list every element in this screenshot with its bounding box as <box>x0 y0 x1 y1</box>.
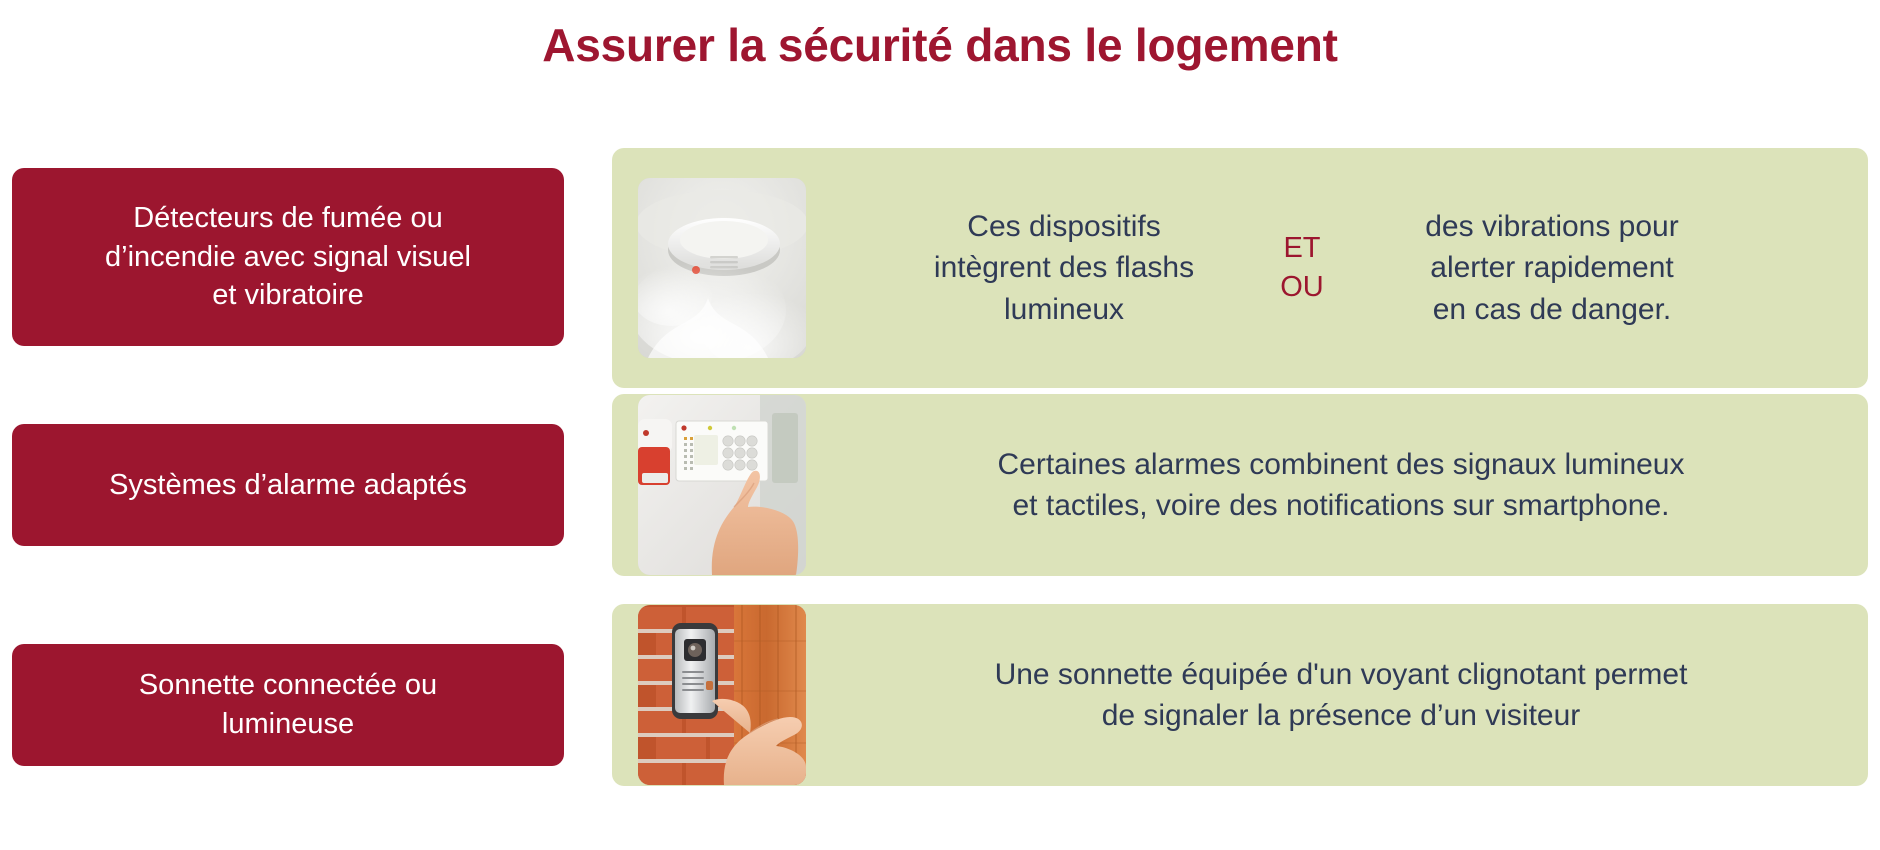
label-text: Détecteurs de fumée ou d’incendie avec s… <box>26 199 550 315</box>
row3-text: Une sonnette équipée d'un voyant clignot… <box>806 654 1868 737</box>
smoke-detector-photo <box>638 178 806 358</box>
row2-text: Certaines alarmes combinent des signaux … <box>806 444 1868 527</box>
label-box-alarm-systems[interactable]: Systèmes d’alarme adaptés <box>12 424 564 546</box>
row-doorbell: Sonnette connectée ou lumineuse <box>0 604 1880 794</box>
row1-text-left: Ces dispositifs intègrent des flashs lum… <box>886 206 1242 330</box>
label-box-smoke-detectors[interactable]: Détecteurs de fumée ou d’incendie avec s… <box>12 168 564 346</box>
row-smoke-detectors: Détecteurs de fumée ou d’incendie avec s… <box>0 148 1880 394</box>
label-text: Sonnette connectée ou lumineuse <box>26 666 550 743</box>
slide-root: Assurer la sécurité dans le logement Dét… <box>0 0 1880 850</box>
alarm-keypad-photo <box>638 395 806 575</box>
label-text: Systèmes d’alarme adaptés <box>26 466 550 505</box>
content-panel-alarm-systems: Certaines alarmes combinent des signaux … <box>612 394 1868 576</box>
row1-text-right: des vibrations pour alerter rapidement e… <box>1362 206 1742 330</box>
content-panel-smoke-detectors: Ces dispositifs intègrent des flashs lum… <box>612 148 1868 388</box>
page-title: Assurer la sécurité dans le logement <box>0 18 1880 73</box>
video-doorbell-photo <box>638 605 806 785</box>
row-alarm-systems: Systèmes d’alarme adaptés <box>0 394 1880 604</box>
row1-conjunction-et-ou: ET OU <box>1242 229 1362 307</box>
content-panel-doorbell: Une sonnette équipée d'un voyant clignot… <box>612 604 1868 786</box>
rows-container: Détecteurs de fumée ou d’incendie avec s… <box>0 148 1880 794</box>
label-box-doorbell[interactable]: Sonnette connectée ou lumineuse <box>12 644 564 766</box>
